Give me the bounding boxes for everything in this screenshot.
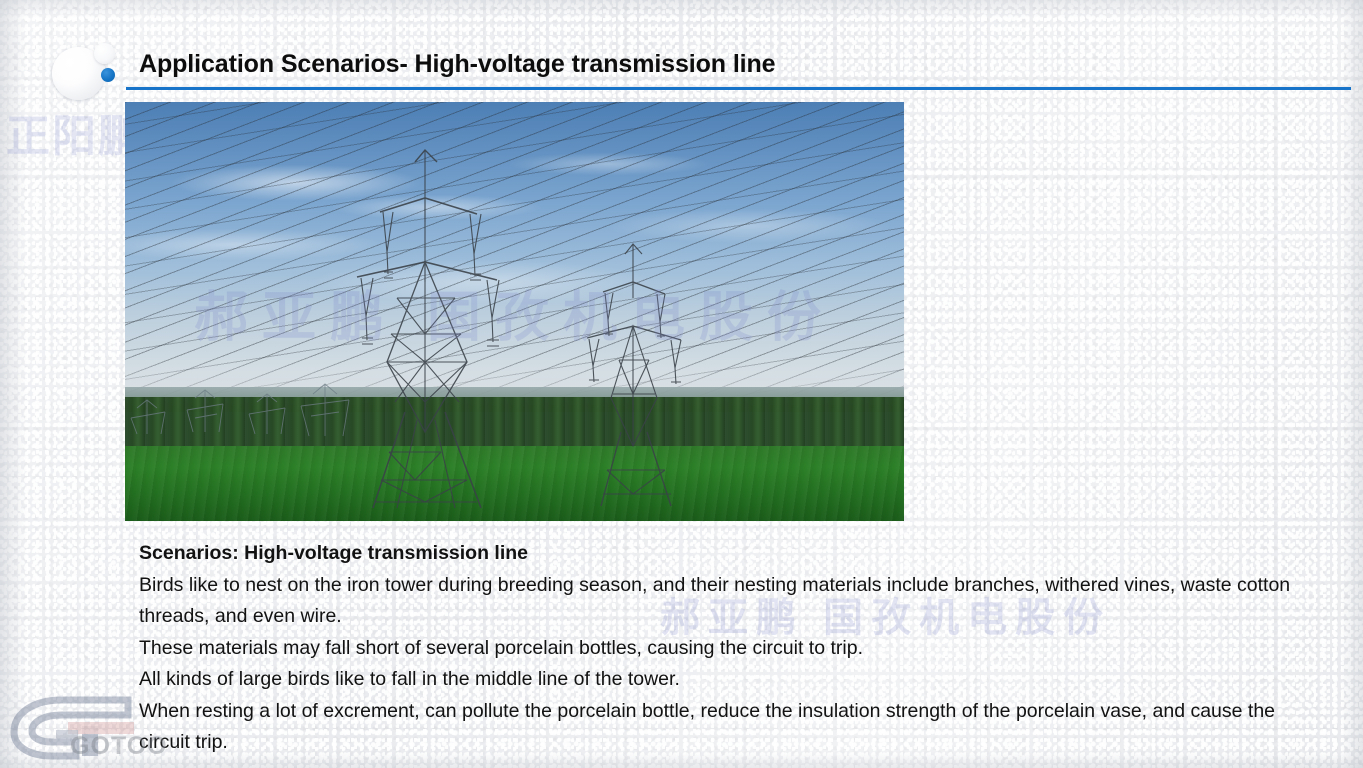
body-text-block: Scenarios: High-voltage transmission lin… xyxy=(139,538,1319,759)
body-paragraph-2: These materials may fall short of severa… xyxy=(139,633,1319,665)
decorative-small-circle-icon xyxy=(94,43,115,64)
slide-canvas: 正阳鹏 Application Scenarios- High-voltage … xyxy=(0,0,1363,768)
body-paragraph-4: When resting a lot of excrement, can pol… xyxy=(139,696,1319,759)
body-paragraph-3: All kinds of large birds like to fall in… xyxy=(139,664,1319,696)
body-lead-line: Scenarios: High-voltage transmission lin… xyxy=(139,538,1319,570)
title-block: Application Scenarios- High-voltage tran… xyxy=(139,48,1319,80)
photo-transmission-towers-icon xyxy=(125,102,904,521)
title-underline-rule xyxy=(126,87,1351,90)
page-title: Application Scenarios- High-voltage tran… xyxy=(139,48,1319,80)
body-paragraph-1: Birds like to nest on the iron tower dur… xyxy=(139,570,1319,633)
transmission-line-photo: 郝亚鹏 国孜机电股份 xyxy=(125,102,904,521)
decorative-blue-dot-icon xyxy=(101,68,115,82)
